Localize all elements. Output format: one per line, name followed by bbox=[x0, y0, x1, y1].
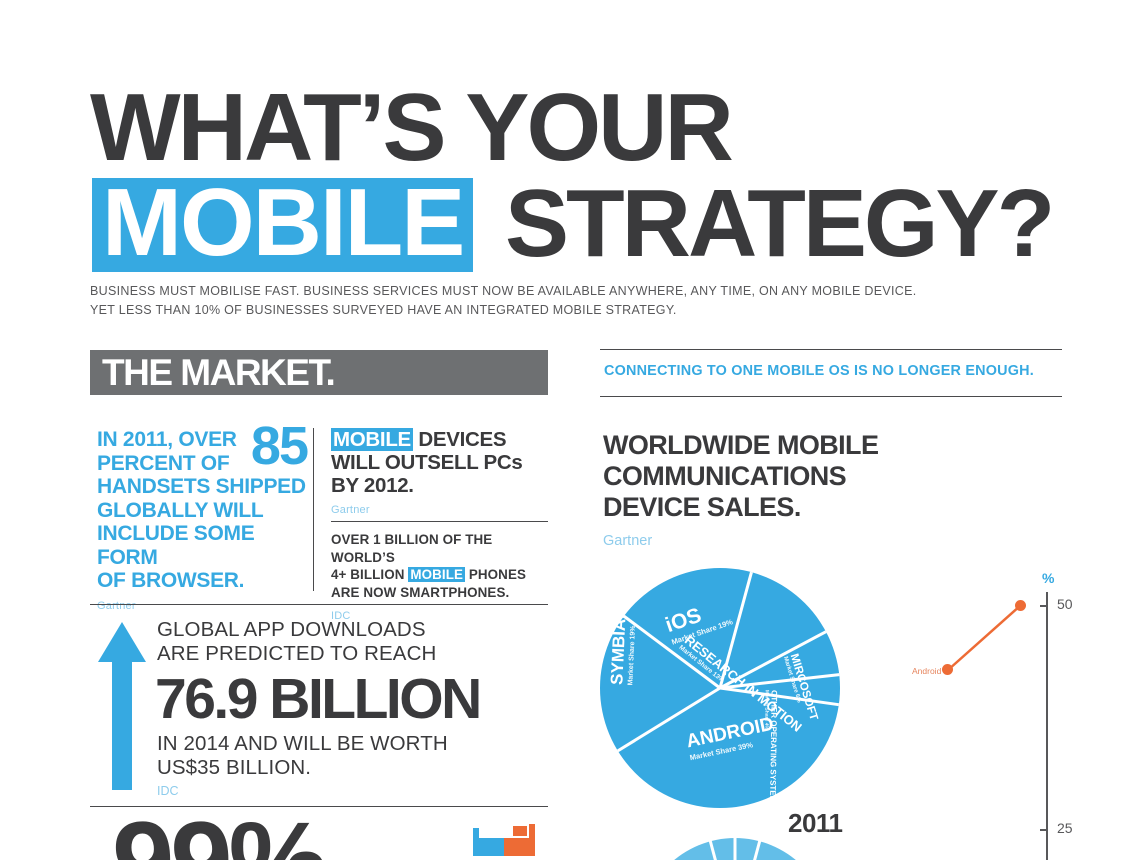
pie-chart-2011: ANDROIDMarket Share 39%SYMBIANMarket Sha… bbox=[598, 566, 842, 810]
left-divider-2 bbox=[90, 806, 548, 807]
stat-downloads-bottom-1: IN 2014 AND WILL BE WORTH bbox=[157, 732, 557, 756]
subtitle-line-1: BUSINESS MUST MOBILISE FAST. BUSINESS SE… bbox=[90, 282, 990, 301]
stat-browser-source: Gartner bbox=[97, 600, 307, 612]
stat-outsell-line-2: WILL OUTSELL PCs bbox=[331, 451, 531, 474]
the-market-label: THE MARKET. bbox=[102, 351, 334, 395]
stat-smartphones-l2b: PHONES bbox=[465, 567, 526, 582]
arrow-shaft bbox=[112, 658, 132, 790]
headline-line-1: WHAT’S YOUR bbox=[90, 86, 1090, 170]
bed-icon bbox=[473, 824, 535, 858]
worldwide-heading-line-1: WORLDWIDE MOBILE bbox=[603, 430, 1003, 461]
stat-browser-line-6: OF BROWSER. bbox=[97, 569, 307, 593]
stat-smartphones-block: OVER 1 BILLION OF THE WORLD’S 4+ BILLION… bbox=[331, 531, 556, 626]
headline-line-2: MOBILE STRATEGY? bbox=[90, 176, 1090, 266]
left-divider-1 bbox=[90, 604, 548, 605]
stat-outsell-divider bbox=[331, 521, 548, 522]
headline-mobile-highlight: MOBILE bbox=[92, 178, 473, 272]
pie-year-label: 2011 bbox=[788, 808, 842, 839]
stat-downloads-big: 76.9 BILLION bbox=[155, 668, 557, 730]
stat-browser-line-5: INCLUDE SOME FORM bbox=[97, 522, 307, 569]
stat-browser-big-number: 85 bbox=[251, 422, 307, 470]
line-chart-android bbox=[896, 560, 1096, 860]
stat-browser-line-3: HANDSETS SHIPPED bbox=[97, 475, 307, 499]
stat-smartphones-l2a: 4+ BILLION bbox=[331, 567, 408, 582]
stat-downloads-bottom-2: US$35 BILLION. bbox=[157, 756, 557, 780]
stat-outsell-rest: DEVICES bbox=[413, 428, 506, 451]
stat-browser-block: 85 IN 2011, OVER PERCENT OF HANDSETS SHI… bbox=[97, 428, 307, 612]
stat-outsell-heading: MOBILE DEVICES WILL OUTSELL PCs BY 2012. bbox=[331, 428, 531, 497]
worldwide-source: Gartner bbox=[603, 533, 652, 549]
pie-chart-secondary bbox=[640, 838, 830, 860]
stat-downloads-source: IDC bbox=[157, 784, 557, 798]
pie-label-symbian: SYMBIANMarket Share 19% bbox=[607, 606, 638, 686]
headline: WHAT’S YOUR MOBILE STRATEGY? bbox=[90, 86, 1090, 266]
worldwide-heading-line-3: DEVICE SALES. bbox=[603, 492, 1003, 523]
stat-outsell-block: MOBILE DEVICES WILL OUTSELL PCs BY 2012.… bbox=[331, 428, 531, 516]
stat-downloads-top-2: ARE PREDICTED TO REACH bbox=[157, 642, 557, 666]
stat-outsell-source: Gartner bbox=[331, 504, 531, 516]
subtitle: BUSINESS MUST MOBILISE FAST. BUSINESS SE… bbox=[90, 282, 990, 320]
stat-smartphones-line-3: ARE NOW SMARTPHONES. bbox=[331, 584, 556, 602]
stat-browser-text: 85 IN 2011, OVER PERCENT OF HANDSETS SHI… bbox=[97, 428, 307, 593]
headline-strategy: STRATEGY? bbox=[505, 182, 1052, 266]
stat-outsell-mobile-highlight: MOBILE bbox=[331, 428, 413, 451]
column-divider bbox=[313, 428, 314, 591]
up-arrow-icon bbox=[98, 622, 146, 790]
pie-chart-secondary-svg bbox=[640, 838, 830, 860]
data-point-android-2012 bbox=[1015, 600, 1026, 611]
stat-downloads-block: GLOBAL APP DOWNLOADS ARE PREDICTED TO RE… bbox=[157, 618, 557, 798]
worldwide-heading: WORLDWIDE MOBILE COMMUNICATIONS DEVICE S… bbox=[603, 430, 1003, 523]
arrow-head bbox=[98, 622, 146, 662]
pie-label-other-operating-systems: OTHER OPERATING SYSTEMSMarket Share 4% bbox=[762, 689, 779, 807]
stat-downloads-top-1: GLOBAL APP DOWNLOADS bbox=[157, 618, 557, 642]
series-label-android: Android bbox=[912, 666, 941, 676]
connect-rule-top bbox=[600, 349, 1062, 350]
stat-smartphones-mobile-highlight: MOBILE bbox=[408, 567, 465, 582]
connect-heading: CONNECTING TO ONE MOBILE OS IS NO LONGER… bbox=[604, 363, 1034, 379]
stat-smartphones-line-2: 4+ BILLION MOBILE PHONES bbox=[331, 566, 556, 584]
stat-outsell-line-3: BY 2012. bbox=[331, 474, 531, 497]
stat-browser-line-4: GLOBALLY WILL bbox=[97, 499, 307, 523]
stat-bottom-big-percent: 99% bbox=[112, 812, 324, 860]
infographic-page: WHAT’S YOUR MOBILE STRATEGY? BUSINESS MU… bbox=[0, 0, 1148, 860]
subtitle-line-2: YET LESS THAN 10% OF BUSINESSES SURVEYED… bbox=[90, 301, 990, 320]
stat-smartphones-line-1: OVER 1 BILLION OF THE WORLD’S bbox=[331, 531, 556, 566]
data-point-android-2011 bbox=[942, 664, 953, 675]
connect-rule-bottom bbox=[600, 396, 1062, 397]
line-chart-series-android bbox=[948, 605, 1021, 670]
worldwide-heading-line-2: COMMUNICATIONS bbox=[603, 461, 1003, 492]
the-market-banner: THE MARKET. bbox=[90, 350, 548, 395]
